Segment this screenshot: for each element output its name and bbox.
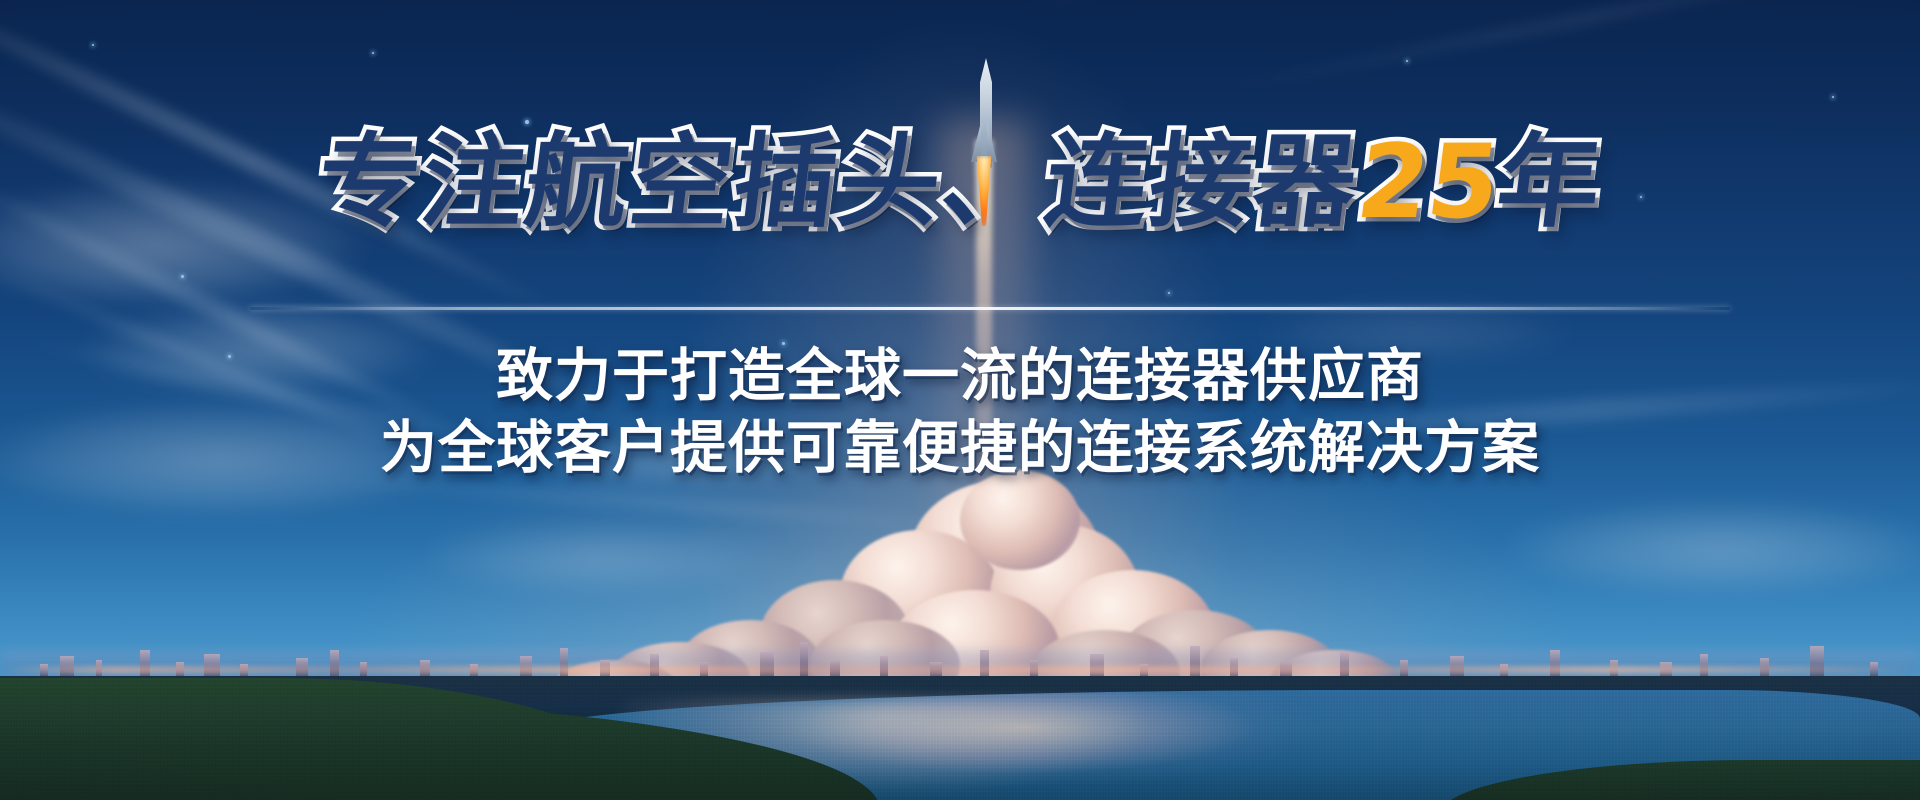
subtitle-line-2: 为全球客户提供可靠便捷的连接系统解决方案: [0, 412, 1920, 484]
subtitle-line-1: 致力于打造全球一流的连接器供应商: [0, 340, 1920, 412]
headline-segment-2: 25: [1352, 132, 1504, 234]
hero-banner: 专注航空插头、连接器25年 致力于打造全球一流的连接器供应商 为全球客户提供可靠…: [0, 0, 1920, 800]
subtitle: 致力于打造全球一流的连接器供应商 为全球客户提供可靠便捷的连接系统解决方案: [0, 340, 1920, 485]
text-layer: 专注航空插头、连接器25年 致力于打造全球一流的连接器供应商 为全球客户提供可靠…: [0, 0, 1920, 800]
headline-segment-3: 年: [1492, 132, 1609, 234]
page-title: 专注航空插头、连接器25年: [0, 132, 1920, 234]
headline-segment-1: 专注航空插头、连接器: [312, 132, 1365, 234]
